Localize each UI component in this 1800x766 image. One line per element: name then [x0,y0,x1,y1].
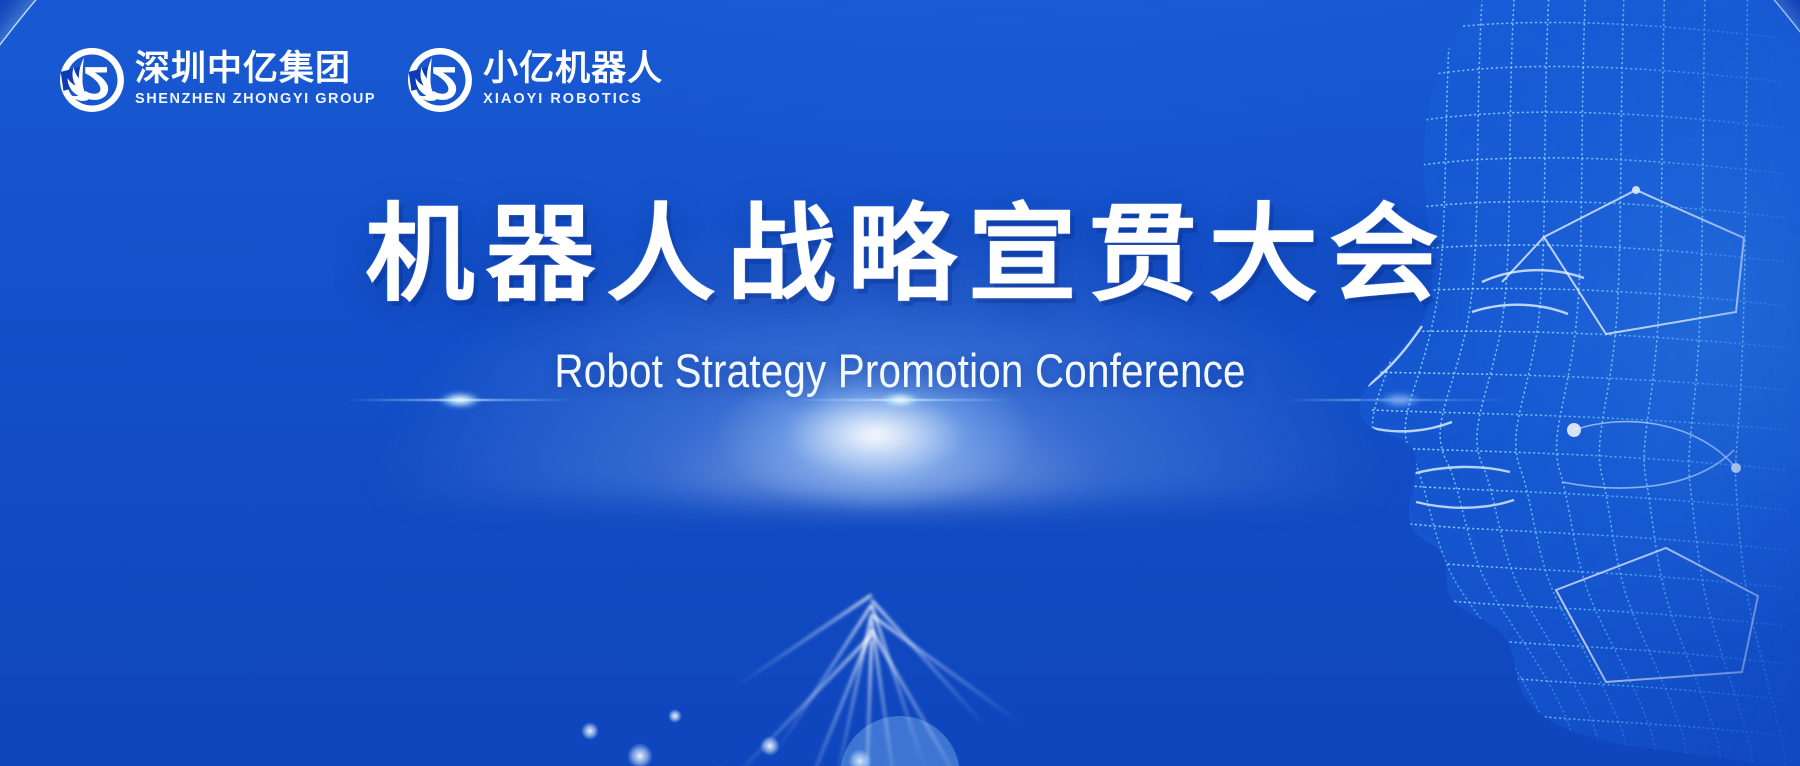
zhongyi-emblem-icon [58,46,126,114]
xiaoyi-emblem-icon [406,46,474,114]
logo-name-cn: 小亿机器人 [483,51,663,88]
background-gradient [0,0,1800,766]
logo-name-en: SHENZHEN ZHONGYI GROUP [135,91,376,108]
conference-banner: 深圳中亿集团 SHENZHEN ZHONGYI GROUP 小亿机器人 XIAO… [0,0,1800,766]
logo-bar: 深圳中亿集团 SHENZHEN ZHONGYI GROUP 小亿机器人 XIAO… [58,46,663,114]
logo-xiaoyi-robotics[interactable]: 小亿机器人 XIAOYI ROBOTICS [406,46,663,114]
logo-name-cn: 深圳中亿集团 [135,51,376,88]
logo-name-en: XIAOYI ROBOTICS [483,91,663,108]
logo-shenzhen-zhongyi-group[interactable]: 深圳中亿集团 SHENZHEN ZHONGYI GROUP [58,46,376,114]
